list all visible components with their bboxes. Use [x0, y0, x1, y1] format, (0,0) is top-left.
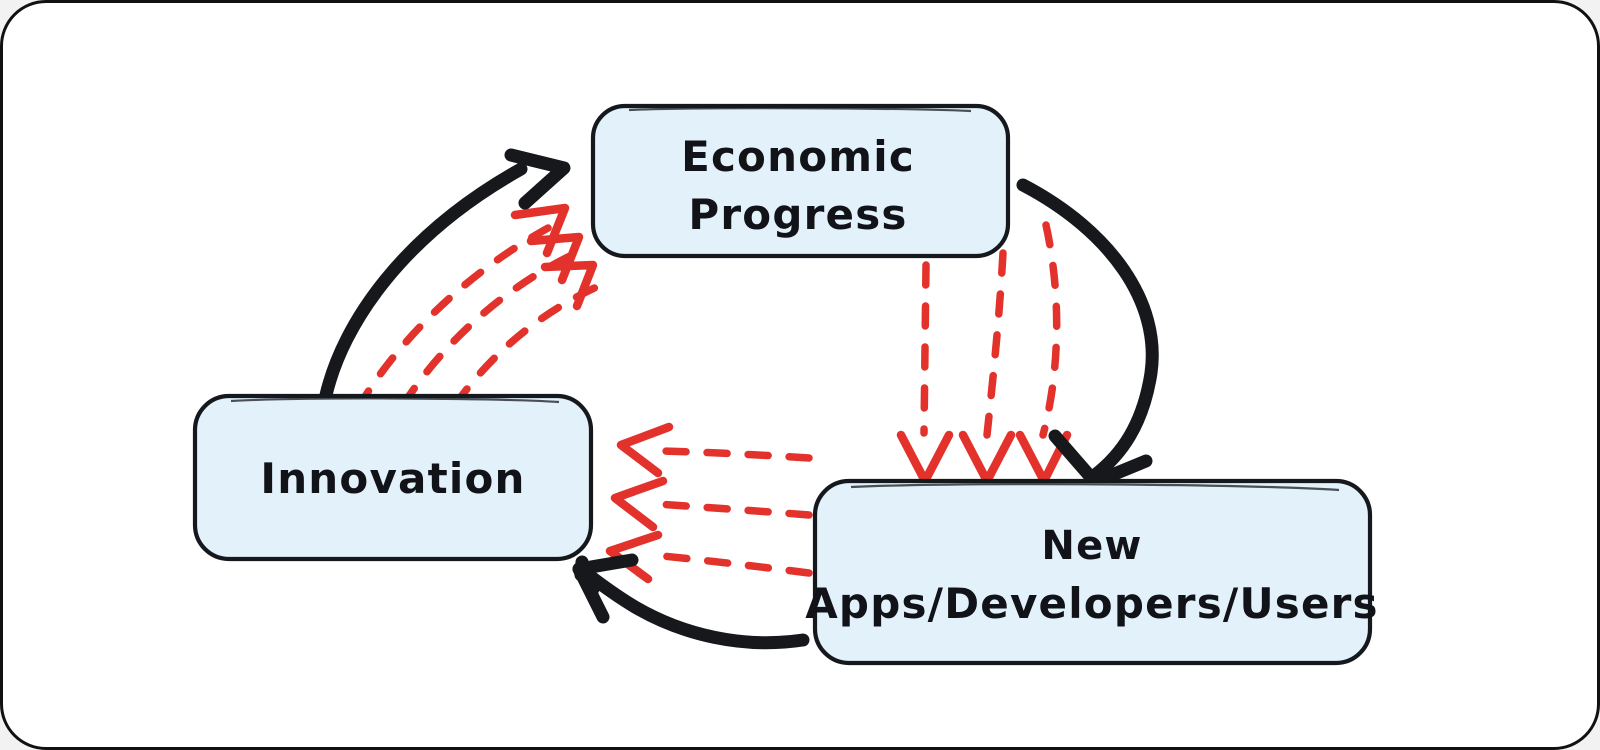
- edge-innovation-to-economic-progress-reinforcing: [358, 208, 601, 408]
- edge-innovation-to-economic-progress: [326, 155, 564, 395]
- node-new-apps-label-line-1: New: [1041, 523, 1142, 569]
- node-economic-progress[interactable]: Economic Progress: [593, 106, 1008, 256]
- node-new-apps[interactable]: New Apps/Developers/Users: [805, 481, 1379, 663]
- node-new-apps-label-line-2: Apps/Developers/Users: [805, 579, 1379, 628]
- edge-new-apps-to-innovation-reinforcing: [610, 427, 809, 579]
- node-economic-progress-label-line-2: Progress: [688, 190, 907, 239]
- diagram-canvas: Economic Progress New Apps/Developers/Us…: [3, 3, 1600, 750]
- node-innovation[interactable]: Innovation: [195, 396, 591, 559]
- node-innovation-label: Innovation: [260, 454, 525, 503]
- edge-new-apps-to-innovation: [579, 560, 803, 643]
- diagram-card: Economic Progress New Apps/Developers/Us…: [0, 0, 1600, 750]
- node-economic-progress-label-line-1: Economic: [681, 132, 915, 181]
- edge-economic-progress-to-new-apps-reinforcing: [901, 225, 1067, 481]
